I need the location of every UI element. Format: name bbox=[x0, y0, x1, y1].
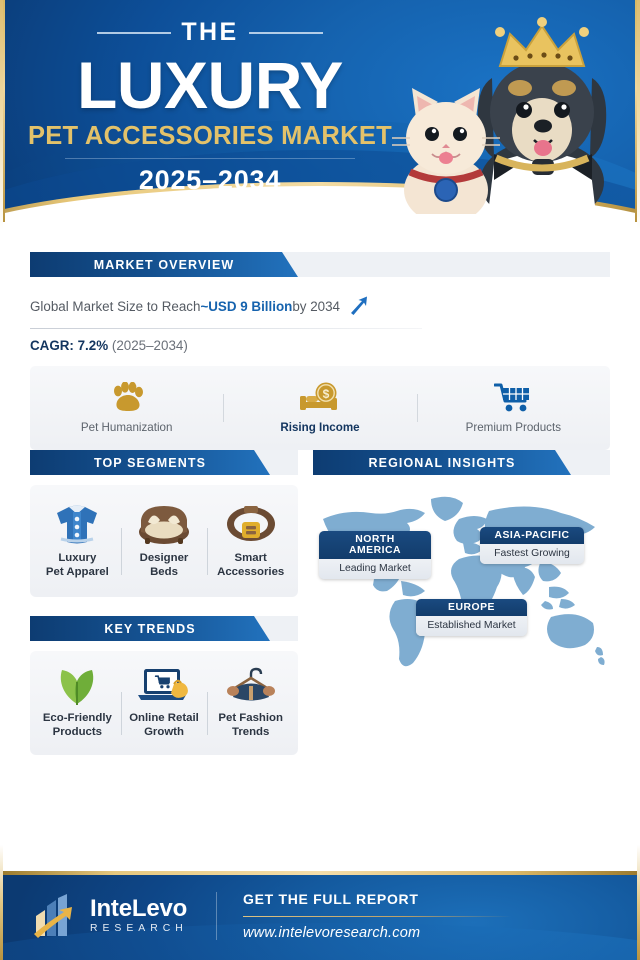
footer-banner: InteLevo RESEARCH GET THE FULL REPORT ww… bbox=[0, 871, 640, 960]
forecast-years: 2025–2034 bbox=[0, 165, 420, 196]
cagr-line: CAGR: 7.2% (2025–2034) bbox=[30, 338, 610, 353]
footer-cta: GET THE FULL REPORT www.intelevoresearch… bbox=[217, 891, 511, 941]
trend-label: Pet FashionTrends bbox=[218, 712, 283, 739]
segment-label: DesignerBeds bbox=[140, 552, 189, 579]
bar-chart-arrow-logo-icon bbox=[32, 894, 82, 938]
segment-smart-accessories: SmartAccessories bbox=[207, 502, 294, 579]
segment-label: SmartAccessories bbox=[217, 552, 284, 579]
trend-pet-fashion-trends: Pet FashionTrends bbox=[207, 666, 294, 739]
key-trends-panel: Eco-FriendlyProducts bbox=[30, 651, 298, 755]
brand-logo[interactable]: InteLevo RESEARCH bbox=[0, 894, 210, 938]
regional-insights-ribbon-track: REGIONAL INSIGHTS bbox=[313, 450, 610, 475]
eyebrow-rule-left bbox=[97, 32, 171, 34]
region-status: Fastest Growing bbox=[480, 544, 584, 564]
top-segments-panel: LuxuryPet Apparel DesignerBeds bbox=[30, 485, 298, 597]
market-overview-divider bbox=[30, 328, 422, 329]
world-map bbox=[313, 485, 610, 681]
infographic-page: THE LUXURY PET ACCESSORIES MARKET 2025–2… bbox=[0, 0, 640, 960]
key-trends-header: KEY TRENDS bbox=[30, 616, 270, 641]
market-size-headline: Global Market Size to Reach ~USD 9 Billi… bbox=[30, 294, 610, 319]
region-badge-asia-pacific[interactable]: ASIA-PACIFIC Fastest Growing bbox=[480, 527, 584, 564]
top-segments-header: TOP SEGMENTS bbox=[30, 450, 270, 475]
pet-bed-icon bbox=[137, 502, 191, 546]
svg-text:$: $ bbox=[323, 387, 330, 401]
segment-designer-beds: DesignerBeds bbox=[121, 502, 208, 579]
region-name: NORTH AMERICA bbox=[319, 531, 431, 559]
paw-print-icon bbox=[110, 382, 144, 414]
logo-subtitle: RESEARCH bbox=[90, 924, 188, 934]
shopping-cart-icon bbox=[494, 382, 532, 414]
trend-eco-friendly-products: Eco-FriendlyProducts bbox=[34, 666, 121, 739]
cta-rule bbox=[243, 916, 511, 917]
eyebrow-row: THE bbox=[0, 18, 420, 47]
smart-collar-icon bbox=[224, 502, 278, 546]
segment-luxury-pet-apparel: LuxuryPet Apparel bbox=[34, 502, 121, 579]
page-title: LUXURY bbox=[0, 49, 420, 121]
top-segments-title: TOP SEGMENTS bbox=[94, 456, 206, 470]
key-trends-title: KEY TRENDS bbox=[104, 622, 195, 636]
right-column: REGIONAL INSIGHTS bbox=[313, 450, 610, 681]
market-overview-title: MARKET OVERVIEW bbox=[94, 258, 235, 272]
driver-premium-products: Premium Products bbox=[417, 382, 610, 434]
header-title-block: THE LUXURY PET ACCESSORIES MARKET 2025–2… bbox=[0, 18, 420, 196]
headline-prefix: Global Market Size to Reach bbox=[30, 299, 200, 314]
leaf-icon bbox=[54, 666, 100, 706]
logo-name: InteLevo bbox=[90, 897, 188, 921]
trend-label: Eco-FriendlyProducts bbox=[43, 712, 112, 739]
driver-label: Pet Humanization bbox=[81, 421, 173, 434]
pet-shirt-icon bbox=[53, 502, 101, 546]
money-bed-icon: $ bbox=[298, 382, 342, 414]
eyebrow-rule-right bbox=[249, 32, 323, 34]
market-drivers-panel: Pet Humanization $ Rising Income bbox=[30, 366, 610, 450]
subtitle-rule bbox=[65, 158, 355, 159]
driver-rising-income: $ Rising Income bbox=[223, 382, 416, 434]
market-overview-section: MARKET OVERVIEW Global Market Size to Re… bbox=[30, 252, 610, 450]
top-segments-ribbon-track: TOP SEGMENTS bbox=[30, 450, 298, 475]
segment-label: LuxuryPet Apparel bbox=[46, 552, 109, 579]
region-status: Leading Market bbox=[319, 559, 431, 579]
eyebrow-text: THE bbox=[181, 18, 238, 47]
trend-online-retail-growth: Online RetailGrowth bbox=[121, 666, 208, 739]
cta-title: GET THE FULL REPORT bbox=[243, 891, 511, 907]
market-overview-header: MARKET OVERVIEW bbox=[30, 252, 298, 277]
region-name: EUROPE bbox=[416, 599, 527, 616]
region-status: Established Market bbox=[416, 616, 527, 636]
laptop-cart-icon bbox=[136, 666, 192, 706]
header-banner: THE LUXURY PET ACCESSORIES MARKET 2025–2… bbox=[0, 0, 640, 222]
page-edge-left bbox=[0, 0, 3, 960]
cta-url[interactable]: www.intelevoresearch.com bbox=[243, 925, 511, 941]
world-map-container: NORTH AMERICA Leading Market ASIA-PACIFI… bbox=[313, 485, 610, 681]
trend-label: Online RetailGrowth bbox=[129, 712, 199, 739]
market-overview-ribbon-track: MARKET OVERVIEW bbox=[30, 252, 610, 277]
content-area: MARKET OVERVIEW Global Market Size to Re… bbox=[0, 222, 640, 871]
hanger-jacket-icon bbox=[223, 666, 279, 706]
page-subtitle: PET ACCESSORIES MARKET bbox=[0, 121, 420, 151]
headline-highlight: ~USD 9 Billion bbox=[200, 299, 292, 314]
region-name: ASIA-PACIFIC bbox=[480, 527, 584, 544]
regional-insights-title: REGIONAL INSIGHTS bbox=[369, 456, 516, 470]
regional-insights-header: REGIONAL INSIGHTS bbox=[313, 450, 571, 475]
cagr-period: (2025–2034) bbox=[108, 338, 188, 353]
trend-up-arrow-icon bbox=[347, 294, 369, 319]
region-badge-north-america[interactable]: NORTH AMERICA Leading Market bbox=[319, 531, 431, 579]
region-badge-europe[interactable]: EUROPE Established Market bbox=[416, 599, 527, 636]
left-column: TOP SEGMENTS LuxuryPet Apparel bbox=[30, 450, 298, 755]
headline-suffix: by 2034 bbox=[292, 299, 340, 314]
driver-label: Rising Income bbox=[280, 421, 359, 434]
cagr-value: CAGR: 7.2% bbox=[30, 338, 108, 353]
key-trends-ribbon-track: KEY TRENDS bbox=[30, 616, 298, 641]
driver-label: Premium Products bbox=[466, 421, 561, 434]
driver-pet-humanization: Pet Humanization bbox=[30, 382, 223, 434]
